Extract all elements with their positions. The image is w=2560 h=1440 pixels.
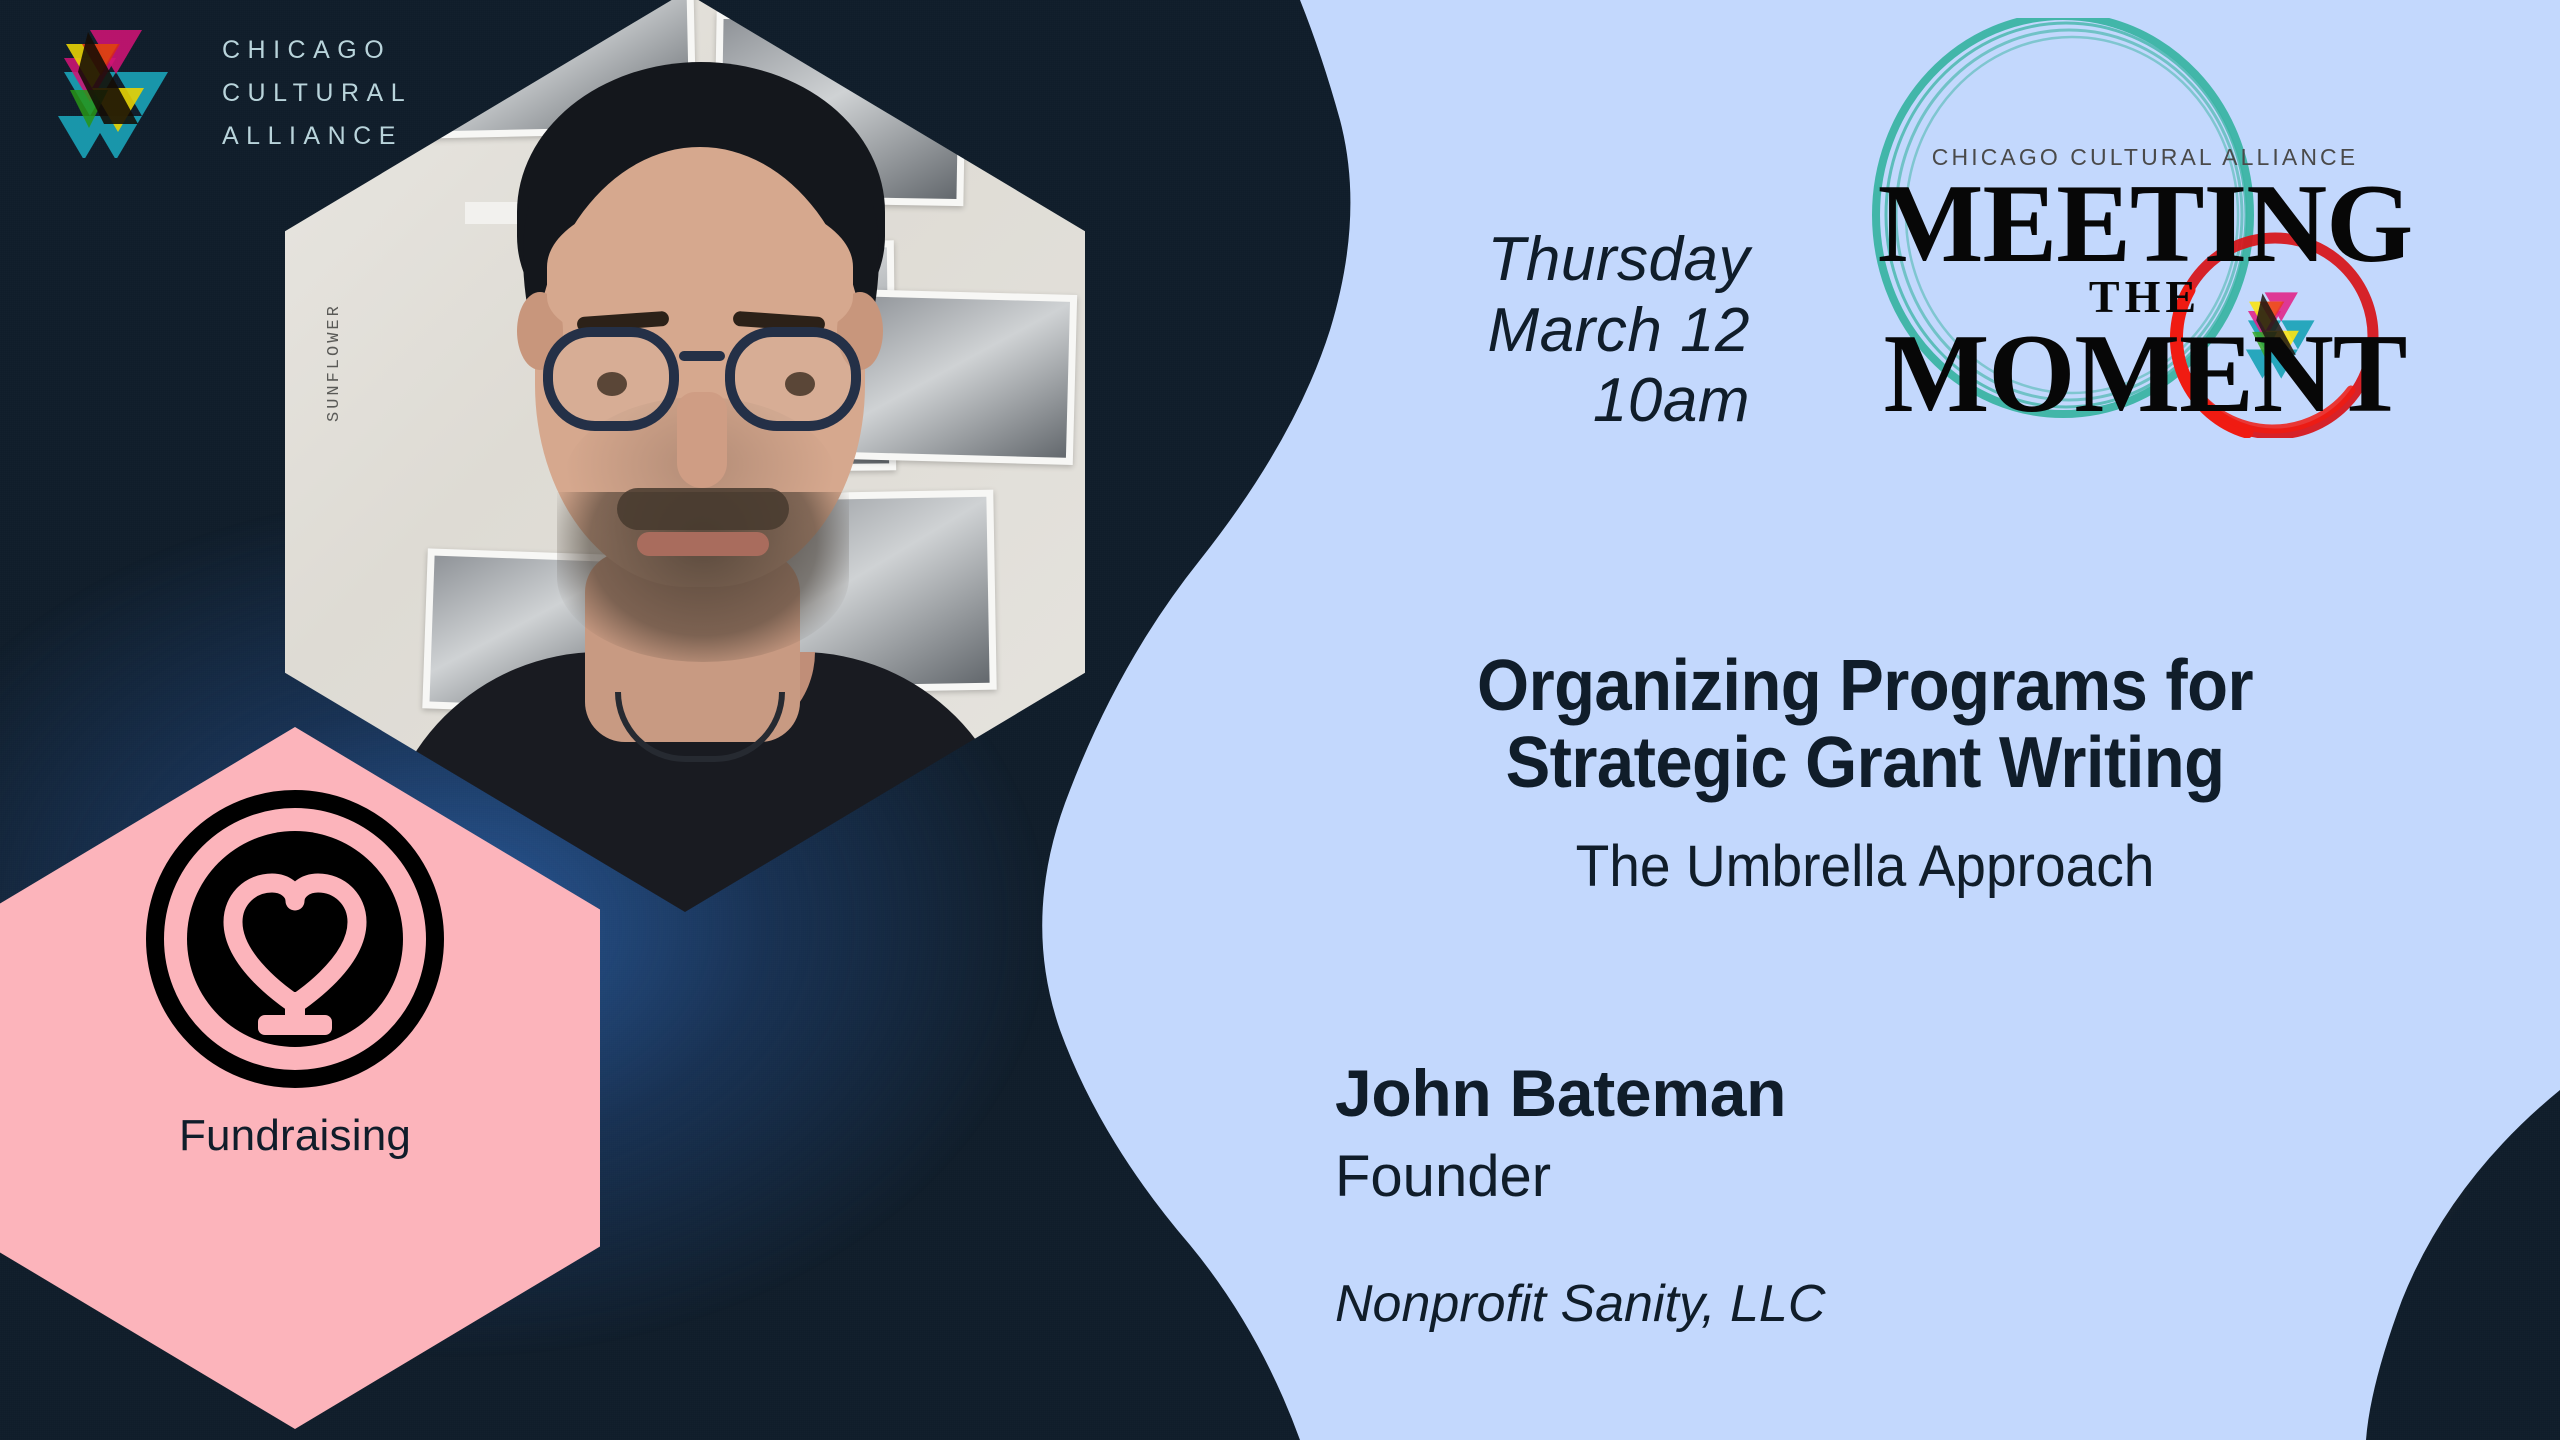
eyeglasses-icon bbox=[543, 327, 861, 437]
event-date: March 12 bbox=[1450, 296, 1750, 367]
cca-wordmark: CHICAGO CULTURAL ALLIANCE bbox=[222, 29, 412, 158]
category-badge-label: Fundraising bbox=[179, 1111, 411, 1161]
heart-trophy-icon bbox=[145, 789, 445, 1089]
cca-wordmark-line-2: CULTURAL bbox=[222, 72, 412, 115]
event-title: Organizing Programs for Strategic Grant … bbox=[1395, 648, 2334, 802]
event-subtitle: The Umbrella Approach bbox=[1385, 835, 2345, 899]
event-day: Thursday bbox=[1450, 225, 1750, 296]
speaker-role: Founder bbox=[1335, 1148, 2195, 1206]
series-logo-line-1: MEETING bbox=[1795, 168, 2495, 280]
cca-triangle-mark-icon bbox=[42, 28, 194, 158]
event-datetime: Thursday March 12 10am bbox=[1450, 225, 1750, 437]
event-promo-graphic: CHICAGO CULTURAL ALLIANCE SUNFLOWER bbox=[0, 0, 2560, 1440]
speaker-name: John Bateman bbox=[1335, 1060, 2195, 1126]
cca-wordmark-line-1: CHICAGO bbox=[222, 29, 412, 72]
cca-wordmark-line-3: ALLIANCE bbox=[222, 115, 412, 158]
meeting-the-moment-logo: CHICAGO CULTURAL ALLIANCE MEETING THE MO… bbox=[1795, 18, 2495, 438]
speaker-organization: Nonprofit Sanity, LLC bbox=[1335, 1278, 2195, 1330]
cca-logo: CHICAGO CULTURAL ALLIANCE bbox=[42, 28, 412, 158]
event-time: 10am bbox=[1450, 366, 1750, 437]
series-logo-line-3: MOMENT bbox=[1795, 318, 2495, 430]
